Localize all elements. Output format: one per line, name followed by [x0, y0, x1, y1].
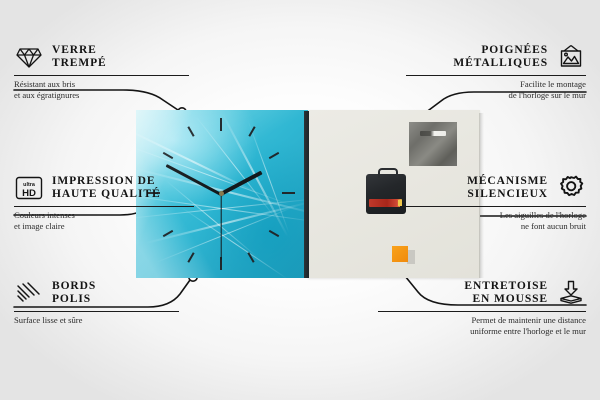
gear-icon — [556, 173, 586, 203]
svg-text:HD: HD — [22, 188, 36, 199]
ultra-hd-badge-icon: ultra HD — [14, 173, 44, 203]
metal-hanger-plate — [409, 122, 457, 166]
feature-header: BORDS POLIS — [14, 278, 179, 308]
feature-description: Permet de maintenir une distance uniform… — [378, 315, 586, 336]
feature-header: POIGNÉES MÉTALLIQUES — [406, 42, 586, 72]
clock-tick — [187, 252, 194, 263]
foam-spacer — [392, 246, 408, 262]
feature-description: Résistant aux bris et aux égratignures — [14, 79, 189, 100]
feature-title: BORDS POLIS — [52, 280, 96, 307]
feature-title: IMPRESSION DE HAUTE QUALITÉ — [52, 175, 161, 202]
feature-description: Facilite le montage de l'horloge sur le … — [406, 79, 586, 100]
feature-verre-trempe: VERRE TREMPÉ Résistant aux bris et aux é… — [14, 42, 189, 100]
clock-tick — [269, 152, 280, 159]
feature-title: MÉCANISME SILENCIEUX — [467, 175, 548, 202]
polished-edges-icon — [14, 278, 44, 308]
feature-description: Les aiguilles de l'horloge ne font aucun… — [400, 210, 586, 231]
feature-entretoise-en-mousse: ENTRETOISE EN MOUSSE Permet de maintenir… — [378, 278, 586, 336]
clock-glass-edge — [304, 111, 309, 278]
foam-spacer-arrow-icon — [556, 278, 586, 308]
feature-divider — [14, 75, 189, 76]
feature-divider — [400, 206, 586, 207]
feature-divider — [378, 311, 586, 312]
feature-header: MÉCANISME SILENCIEUX — [400, 173, 586, 203]
feature-description: Couleurs intenses et image claire — [14, 210, 194, 231]
clock-tick — [269, 230, 280, 237]
feature-title: ENTRETOISE EN MOUSSE — [464, 280, 548, 307]
feature-divider — [14, 311, 179, 312]
feature-title: POIGNÉES MÉTALLIQUES — [453, 44, 548, 71]
feature-impression-haute-qualite: ultra HD IMPRESSION DE HAUTE QUALITÉ Cou… — [14, 173, 194, 231]
feature-bords-polis: BORDS POLIS Surface lisse et sûre — [14, 278, 179, 326]
foam-spacer-shadow — [407, 250, 415, 264]
feature-title: VERRE TREMPÉ — [52, 44, 107, 71]
feature-poignees-metalliques: POIGNÉES MÉTALLIQUES Facilite le montage… — [406, 42, 586, 100]
feature-divider — [406, 75, 586, 76]
mechanism-bracket — [378, 168, 398, 178]
feature-header: ENTRETOISE EN MOUSSE — [378, 278, 586, 308]
clock-tick — [187, 126, 194, 137]
feature-header: VERRE TREMPÉ — [14, 42, 189, 72]
clock-tick — [220, 118, 222, 131]
feature-header: ultra HD IMPRESSION DE HAUTE QUALITÉ — [14, 173, 194, 203]
clock-second-hand — [220, 194, 221, 260]
product-infographic: VERRE TREMPÉ Résistant aux bris et aux é… — [0, 0, 600, 400]
hanger-slot — [420, 131, 446, 136]
feature-mecanisme-silencieux: MÉCANISME SILENCIEUX Les aiguilles de l'… — [400, 173, 586, 231]
feature-description: Surface lisse et sûre — [14, 315, 179, 326]
clock-center-cap — [219, 191, 224, 196]
feature-divider — [14, 206, 194, 207]
battery — [369, 199, 402, 207]
hanging-frame-icon — [556, 42, 586, 72]
diamond-icon — [14, 42, 44, 72]
clock-tick — [282, 192, 295, 194]
